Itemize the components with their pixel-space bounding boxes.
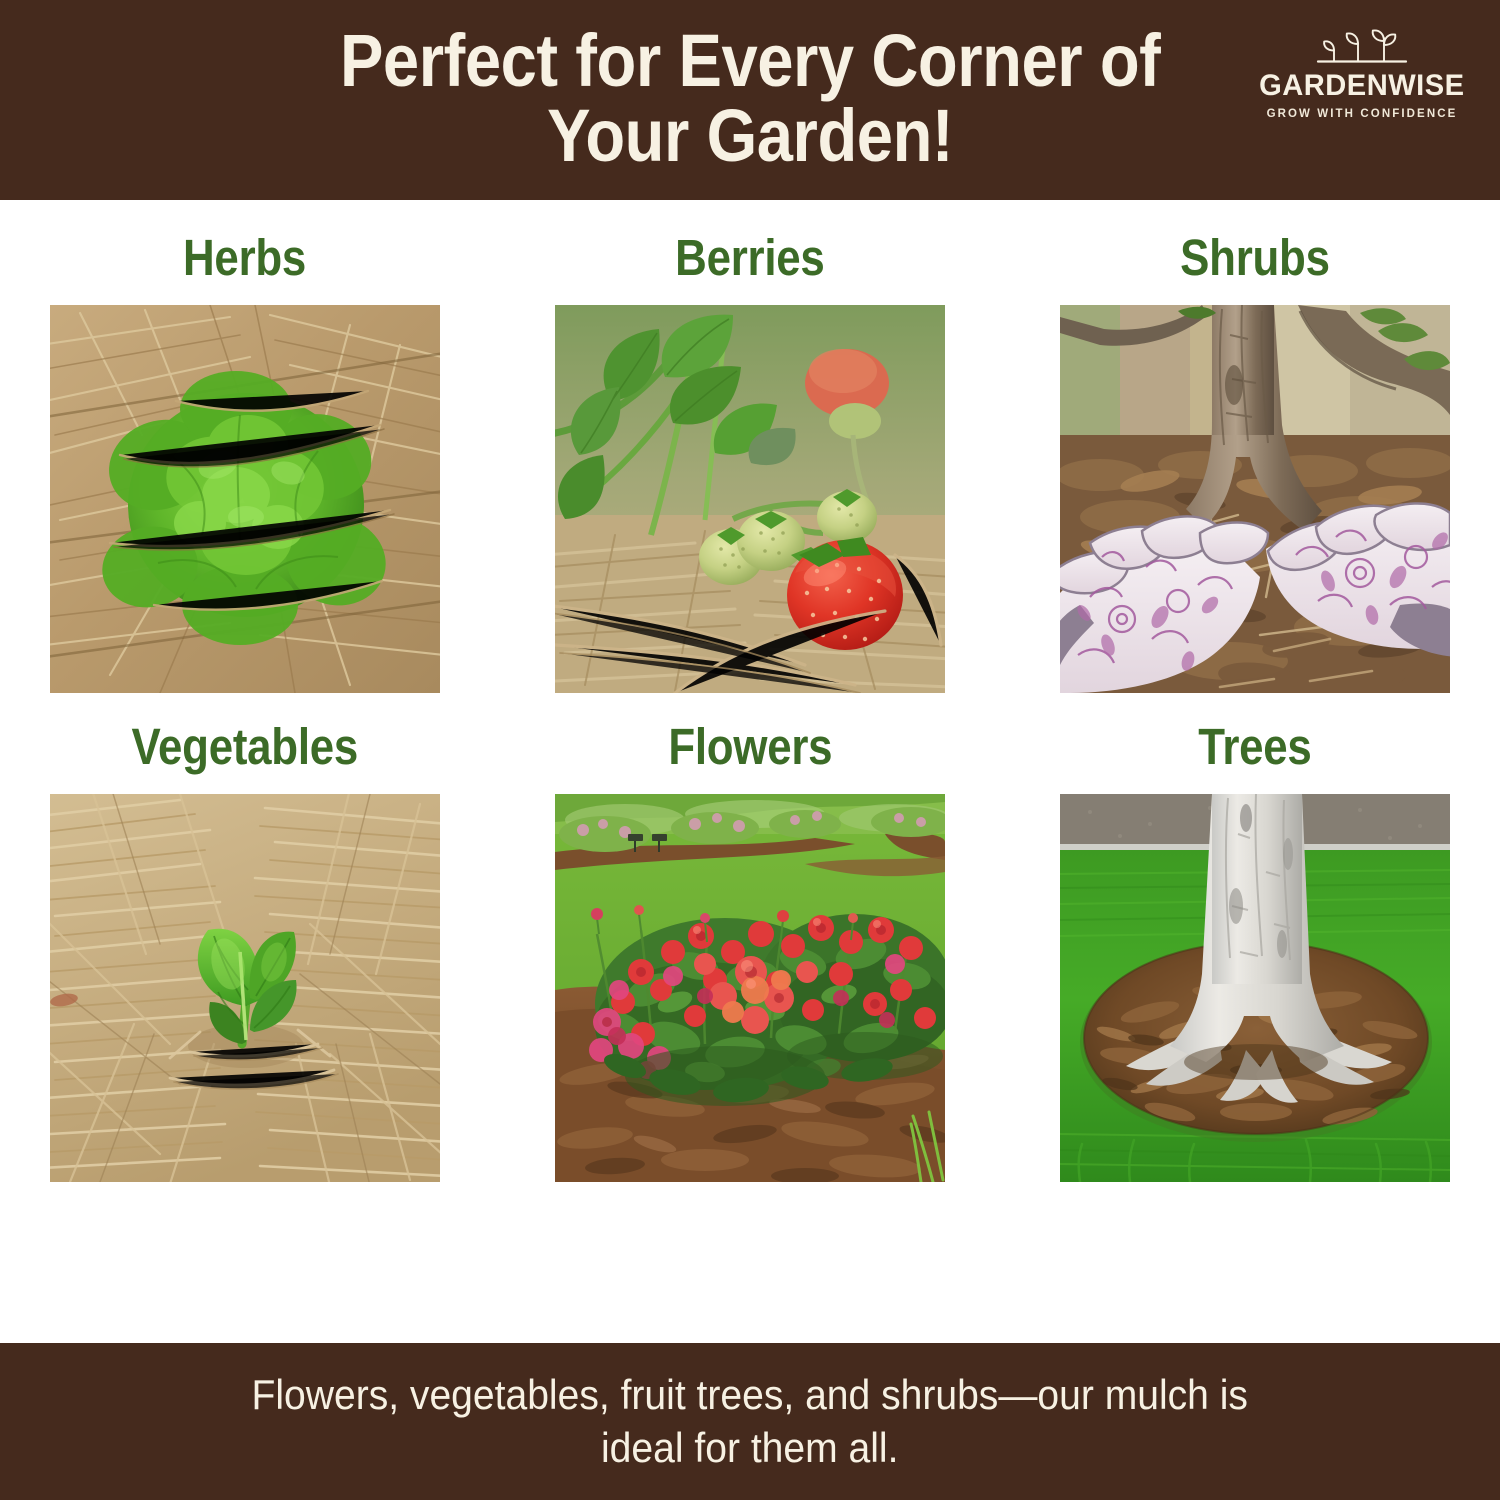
brand-logo: GARDENWISE GROW WITH CONFIDENCE bbox=[1256, 26, 1468, 121]
footer-caption-line-1: Flowers, vegetables, fruit trees, and sh… bbox=[252, 1369, 1248, 1421]
page-title-line-1: Perfect for Every Corner of bbox=[340, 23, 1160, 98]
category-row-2: Vegetables bbox=[50, 721, 1450, 1182]
infographic-page: Perfect for Every Corner of Your Garden! bbox=[0, 0, 1500, 1500]
berries-photo bbox=[555, 305, 945, 693]
footer-caption: Flowers, vegetables, fruit trees, and sh… bbox=[252, 1369, 1248, 1473]
header-band: Perfect for Every Corner of Your Garden! bbox=[0, 0, 1500, 200]
category-grid: Herbs bbox=[0, 200, 1500, 1343]
category-cell-vegetables: Vegetables bbox=[50, 721, 440, 1182]
flowers-photo bbox=[555, 794, 945, 1182]
trees-photo bbox=[1060, 794, 1450, 1182]
page-title: Perfect for Every Corner of Your Garden! bbox=[340, 23, 1160, 178]
page-title-line-2: Your Garden! bbox=[340, 98, 1160, 173]
three-sprouts-icon bbox=[1306, 26, 1418, 68]
category-label-shrubs: Shrubs bbox=[1180, 232, 1330, 283]
category-cell-berries: Berries bbox=[555, 232, 945, 693]
footer-band: Flowers, vegetables, fruit trees, and sh… bbox=[0, 1343, 1500, 1500]
category-cell-shrubs: Shrubs bbox=[1060, 232, 1450, 693]
shrubs-photo bbox=[1060, 305, 1450, 693]
category-cell-flowers: Flowers bbox=[555, 721, 945, 1182]
logo-tagline: GROW WITH CONFIDENCE bbox=[1267, 109, 1458, 121]
footer-caption-line-2: ideal for them all. bbox=[252, 1422, 1248, 1474]
category-row-1: Herbs bbox=[50, 232, 1450, 693]
category-cell-trees: Trees bbox=[1060, 721, 1450, 1182]
herbs-photo bbox=[50, 305, 440, 693]
category-label-vegetables: Vegetables bbox=[132, 721, 359, 772]
category-label-trees: Trees bbox=[1198, 721, 1311, 772]
category-label-herbs: Herbs bbox=[183, 232, 306, 283]
category-label-flowers: Flowers bbox=[668, 721, 832, 772]
vegetables-photo bbox=[50, 794, 440, 1182]
logo-wordmark: GARDENWISE bbox=[1259, 71, 1464, 101]
category-cell-herbs: Herbs bbox=[50, 232, 440, 693]
category-label-berries: Berries bbox=[675, 232, 824, 283]
